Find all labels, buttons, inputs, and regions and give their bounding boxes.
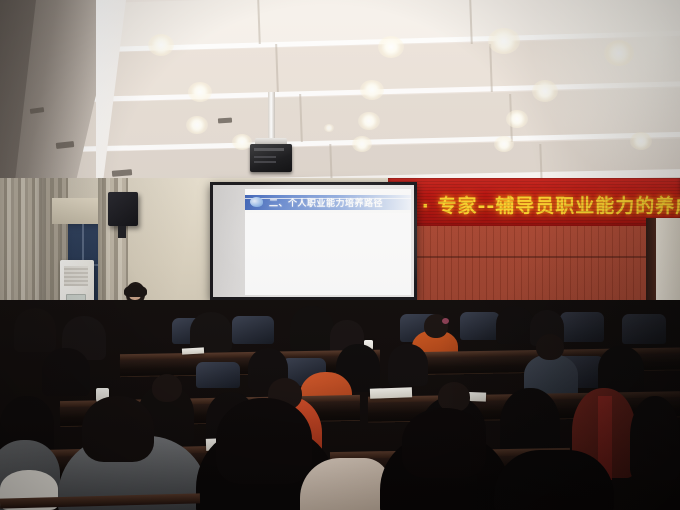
downlight-icon [604, 40, 634, 66]
presentation-slide: 二、个人职业能力培养路径 [245, 189, 411, 295]
chair [560, 312, 604, 342]
slide-body [245, 213, 411, 295]
chair [622, 314, 666, 344]
downlight-icon [232, 134, 252, 150]
cloud-bullet-icon [250, 197, 263, 207]
lecture-hall-photo: 业 · 专家--辅导员职业能力的养成 [0, 0, 680, 510]
audience-person [190, 312, 232, 352]
ceiling-vent [218, 118, 232, 124]
audience-person [290, 306, 334, 352]
audience-head [536, 334, 564, 360]
hair-clip [442, 318, 449, 324]
handout-paper [370, 387, 412, 398]
chair [196, 362, 240, 388]
downlight-icon [506, 110, 528, 128]
audience-person [598, 346, 644, 394]
audience-head [152, 374, 182, 402]
downlight-icon [358, 112, 380, 130]
audience-person [14, 308, 56, 352]
ceiling [0, 0, 680, 190]
audience-person [494, 450, 614, 510]
ac-grille [64, 266, 88, 286]
chair [460, 312, 500, 340]
wall-speaker [108, 192, 138, 226]
downlight-icon [630, 132, 652, 150]
downlight-icon [488, 28, 520, 54]
audience-area [0, 300, 680, 510]
downlight-icon [186, 116, 208, 134]
audience-person [42, 348, 90, 396]
led-banner-text: 业 · 专家--辅导员职业能力的养成 [394, 191, 680, 218]
downlight-icon [352, 136, 372, 152]
presenter-hair [124, 285, 147, 297]
downlight-icon [360, 80, 384, 100]
downlight-icon [148, 34, 174, 56]
chair [232, 316, 274, 344]
audience-head [216, 398, 312, 484]
slide-title: 二、个人职业能力培养路径 [269, 196, 383, 209]
slide-header-bar: 二、个人职业能力培养路径 [245, 195, 411, 210]
led-banner: 业 · 专家--辅导员职业能力的养成 [388, 178, 680, 228]
speaker-bracket [118, 226, 126, 238]
screen-surface: 二、个人职业能力培养路径 [213, 185, 414, 297]
audience-head [402, 408, 486, 478]
ceiling-projector [250, 144, 292, 172]
audience-person [388, 344, 428, 386]
downlight-icon [532, 80, 558, 102]
downlight-icon [188, 82, 212, 102]
downlight-icon [378, 36, 404, 58]
projection-screen: 二、个人职业能力培养路径 [210, 182, 417, 300]
downlight-icon [324, 124, 334, 132]
audience-person [496, 306, 534, 344]
audience-head [82, 396, 154, 462]
handout-paper [182, 347, 204, 354]
wood-panel-seam [388, 256, 680, 258]
downlight-icon [494, 136, 514, 152]
audience-person [630, 396, 680, 480]
